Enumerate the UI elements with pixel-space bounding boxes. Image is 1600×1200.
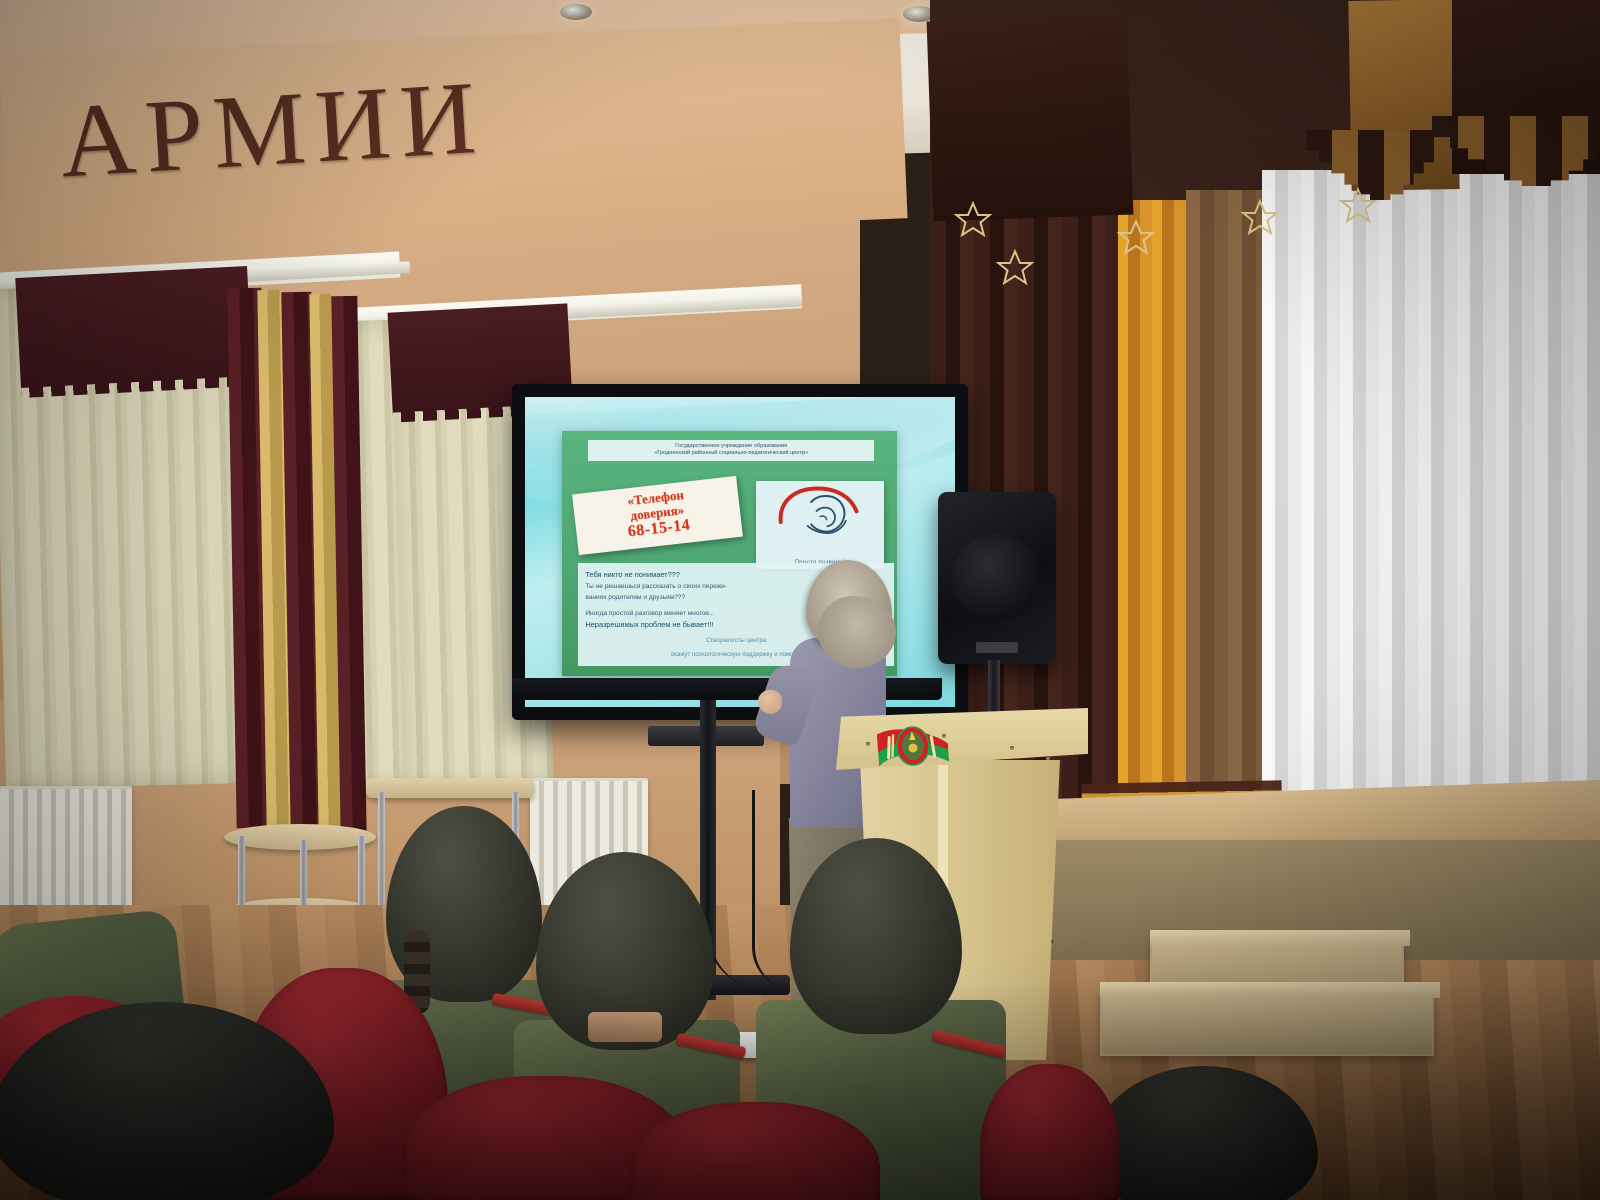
desk-leg bbox=[378, 792, 385, 920]
speaker-brand-badge bbox=[976, 642, 1018, 653]
lectern-screw bbox=[1010, 746, 1014, 750]
assembly-hall-photo: АРМИИ bbox=[0, 0, 1600, 1200]
ceiling-downlight bbox=[560, 4, 592, 20]
helpline-logo-card: Просто позвони! bbox=[756, 481, 883, 569]
stage-step-lower bbox=[1100, 990, 1434, 1056]
interactive-display[interactable]: Государственное учреждение образования «… bbox=[512, 384, 968, 720]
star-decoration-icon bbox=[1116, 218, 1156, 258]
stage-curtain-gold bbox=[1118, 200, 1190, 840]
valance-dark-left bbox=[927, 15, 1134, 222]
stage-curtain-brown bbox=[1186, 190, 1272, 850]
window-valance-left bbox=[15, 266, 252, 388]
presenter-hair bbox=[818, 596, 896, 668]
speaker-cone-icon bbox=[952, 534, 1040, 622]
coat-of-arms-of-belarus-icon bbox=[874, 719, 951, 776]
floor-cable bbox=[752, 790, 795, 990]
slide-header-line2: «Гродненский районный социально-педагоги… bbox=[590, 450, 872, 458]
trust-phone-card: «Телефон доверия» 68-15-14 bbox=[572, 476, 743, 555]
desk-top bbox=[366, 778, 534, 798]
lectern-screw bbox=[1046, 756, 1050, 760]
star-decoration-icon bbox=[953, 200, 993, 240]
star-decoration-icon bbox=[1240, 198, 1280, 238]
presentation-slide: Государственное учреждение образования «… bbox=[525, 397, 955, 707]
mother-and-child-icon bbox=[766, 485, 873, 548]
star-decoration-icon bbox=[1338, 186, 1378, 226]
stage-step-lower-tread bbox=[1100, 982, 1440, 998]
stage-step-upper-tread bbox=[1150, 930, 1410, 946]
presenter-hand bbox=[758, 690, 782, 714]
cadet-neck bbox=[588, 1012, 662, 1042]
wall-text-army: АРМИИ bbox=[57, 57, 489, 201]
pa-speaker bbox=[938, 492, 1056, 664]
lectern-screw bbox=[866, 742, 870, 746]
star-decoration-icon bbox=[995, 248, 1035, 288]
stage-curtain-sheer bbox=[1262, 170, 1600, 850]
lectern-screw bbox=[942, 734, 946, 738]
slide-header: Государственное учреждение образования «… bbox=[588, 440, 874, 462]
